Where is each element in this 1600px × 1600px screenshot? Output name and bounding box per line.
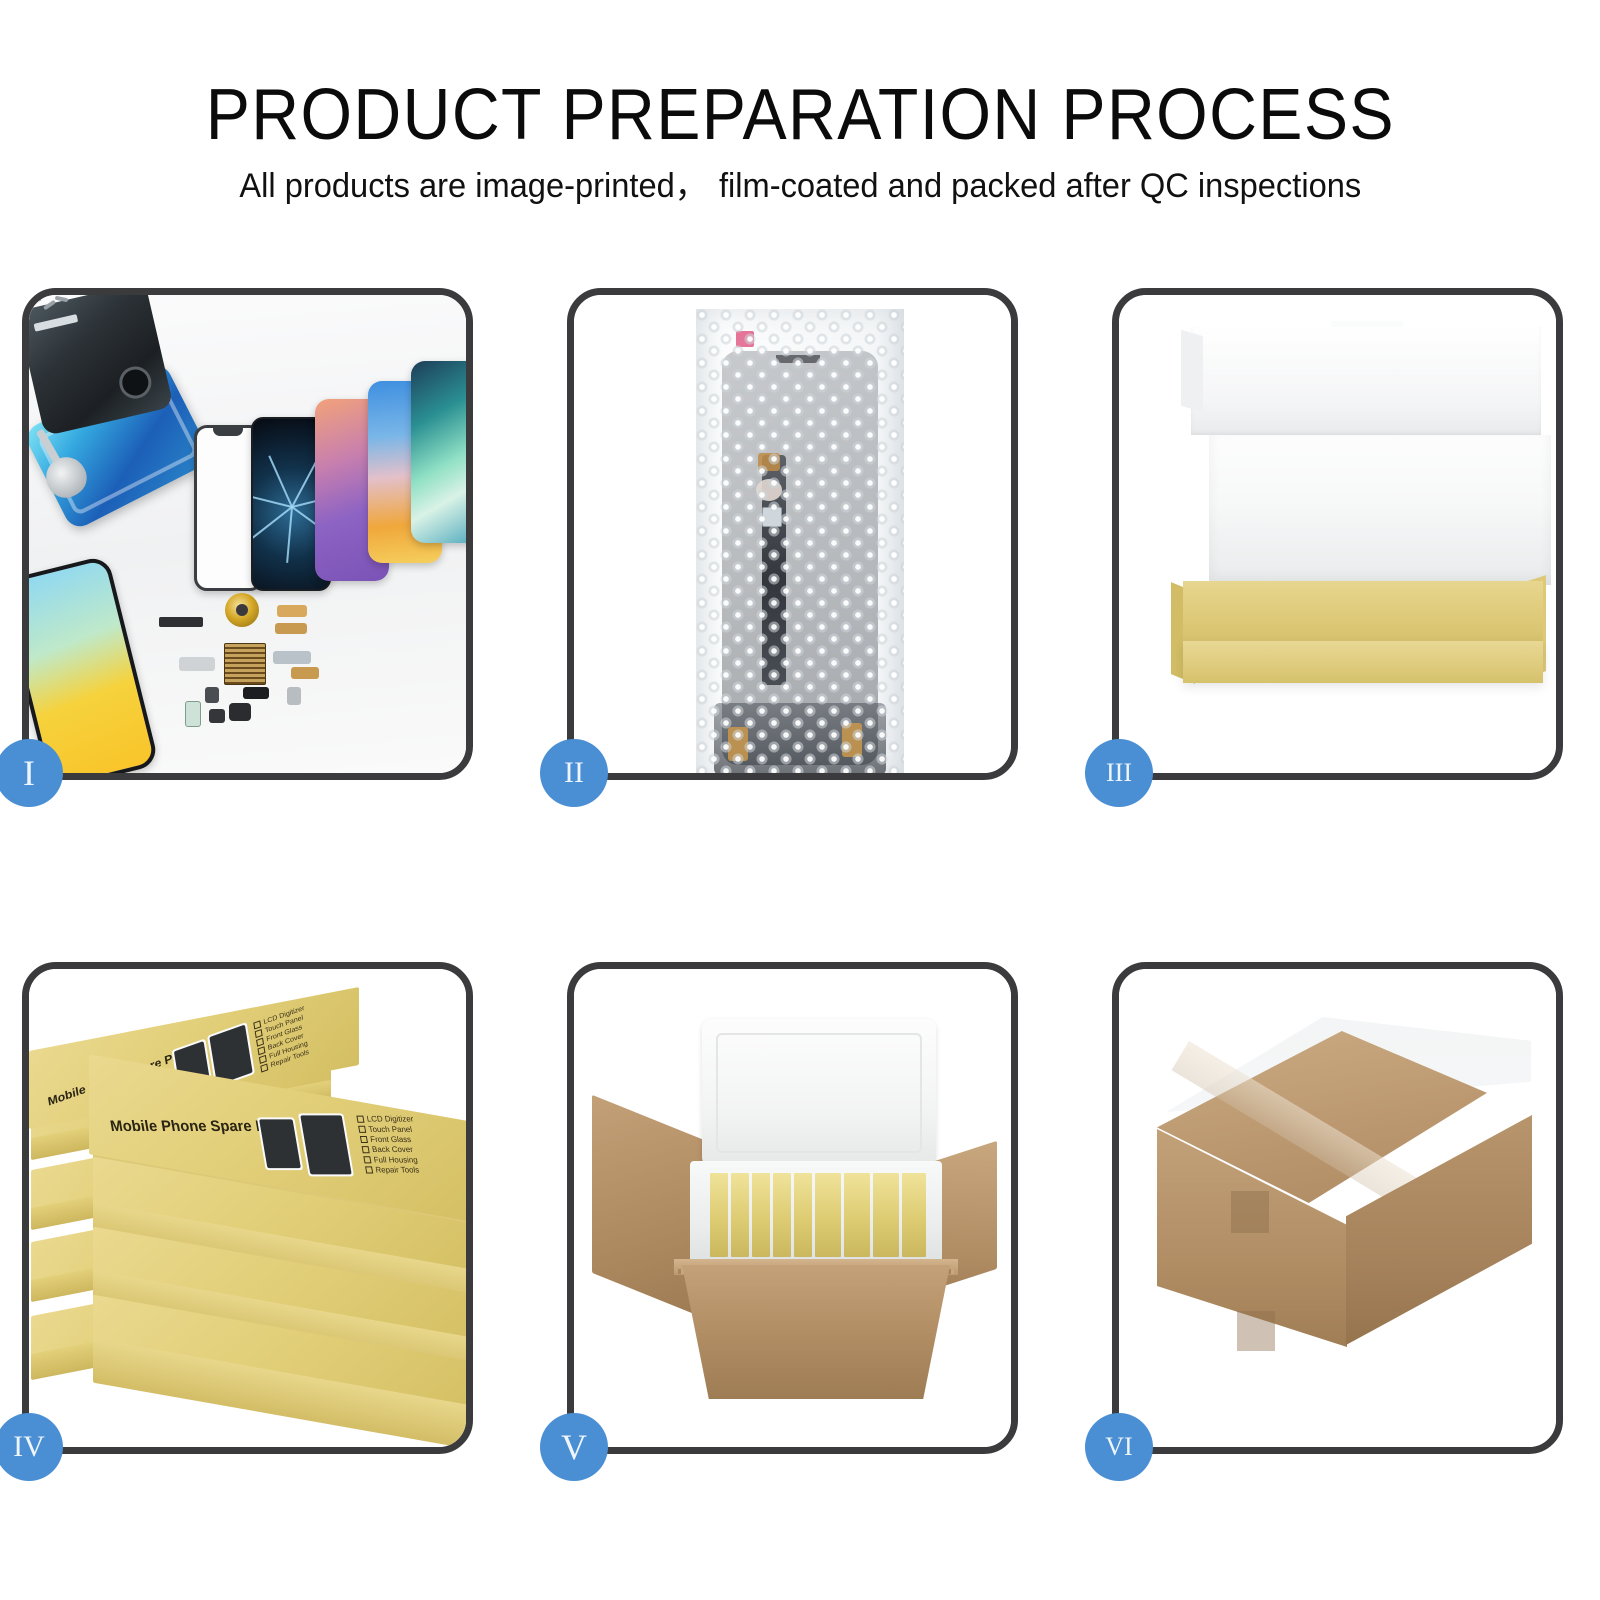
process-step-panel-2[interactable]: II <box>567 288 1018 780</box>
retail-box-checklist-front: LCD DigitizerTouch PanelFront GlassBack … <box>356 1115 423 1176</box>
step-badge-4: IV <box>0 1413 63 1481</box>
vibration-motor-icon <box>229 703 251 721</box>
process-step-panel-5[interactable]: V <box>567 962 1018 1454</box>
process-step-panel-3[interactable]: III <box>1112 288 1563 780</box>
process-step-panel-1[interactable]: I <box>22 288 473 780</box>
side-button-icon <box>287 687 301 705</box>
step-4-image: Mobile Phone Spare Parts LCD DigitizerTo… <box>29 969 466 1447</box>
camera-module-icon <box>205 687 219 703</box>
step-3-image <box>1119 295 1556 773</box>
retail-box-phone-image-front-1 <box>257 1117 303 1170</box>
page-title: PRODUCT PREPARATION PROCESS <box>205 78 1394 152</box>
subtitle-comma: ， <box>674 167 718 205</box>
retail-box-checklist-item: LCD Digitizer <box>356 1115 414 1125</box>
retail-box-checklist-rear: LCD DigitizerTouch PanelFront GlassBack … <box>253 1004 312 1074</box>
bubble-wrap-illustration <box>574 295 1011 773</box>
foam-cooler-lid <box>702 1019 936 1167</box>
stacked-boxes-illustration: Mobile Phone Spare Parts LCD DigitizerTo… <box>29 969 466 1447</box>
box-lid-left-panel <box>1181 330 1203 412</box>
retail-box-checklist-item: Repair Tools <box>365 1165 423 1175</box>
wireless-charging-coil-icon <box>225 593 259 627</box>
flex-cable-icon-1 <box>277 605 307 617</box>
page-subtitle: All products are image-printed，film-coat… <box>239 168 1361 204</box>
retail-box-checklist-item: Front Glass <box>360 1135 418 1145</box>
flex-cable-icon-3 <box>179 657 215 671</box>
subtitle-part-2: film-coated and packed after QC inspecti… <box>719 167 1361 205</box>
retail-box-checklist-item: Touch Panel <box>358 1125 416 1135</box>
carton-body <box>682 1265 950 1399</box>
retail-box-checklist-item: Full Housing <box>363 1155 421 1165</box>
foam-cooler-carton-illustration <box>574 969 1011 1447</box>
flex-cable-icon-4 <box>273 651 311 664</box>
step-badge-1: I <box>0 739 63 807</box>
process-step-grid: I <box>22 288 1578 1438</box>
step-badge-3: III <box>1085 739 1153 807</box>
step-5-image <box>574 969 1011 1447</box>
flex-cable-icon-2 <box>275 623 307 634</box>
process-step-panel-4[interactable]: Mobile Phone Spare Parts LCD DigitizerTo… <box>22 962 473 1454</box>
carton-tape-patch-bottom <box>1237 1311 1275 1351</box>
carton-tape-patch-top <box>1231 1191 1269 1233</box>
foam-lined-box-illustration <box>1119 295 1556 773</box>
bubble-wrap-sleeve <box>696 309 904 773</box>
speaker-icon <box>243 687 269 699</box>
process-step-panel-6[interactable]: VI <box>1112 962 1563 1454</box>
earpiece-strip-icon <box>159 617 203 627</box>
step-6-image <box>1119 969 1556 1447</box>
subtitle-part-1: All products are image-printed <box>239 167 674 205</box>
bubble-texture <box>696 309 904 773</box>
packed-gold-boxes <box>710 1173 926 1257</box>
step-badge-5: V <box>540 1413 608 1481</box>
teal-phone-icon <box>411 361 466 543</box>
circuit-chip-icon <box>224 643 266 685</box>
step-2-image <box>574 295 1011 773</box>
sealed-carton-illustration <box>1119 969 1556 1447</box>
small-part-icon <box>209 709 225 723</box>
flex-cable-icon-5 <box>291 667 319 679</box>
step-1-image <box>29 295 466 773</box>
retail-box-checklist-item: Back Cover <box>361 1145 419 1155</box>
page-header: PRODUCT PREPARATION PROCESS All products… <box>0 0 1600 250</box>
sim-tray-icon <box>185 701 201 727</box>
step-badge-2: II <box>540 739 608 807</box>
retail-box-phone-image-front-2 <box>298 1113 354 1176</box>
parts-collage-illustration <box>29 295 466 773</box>
foam-sheet <box>1209 435 1551 585</box>
gold-tray-front <box>1183 641 1543 683</box>
box-lid-back-panel <box>1191 327 1541 435</box>
step-badge-6: VI <box>1085 1413 1153 1481</box>
